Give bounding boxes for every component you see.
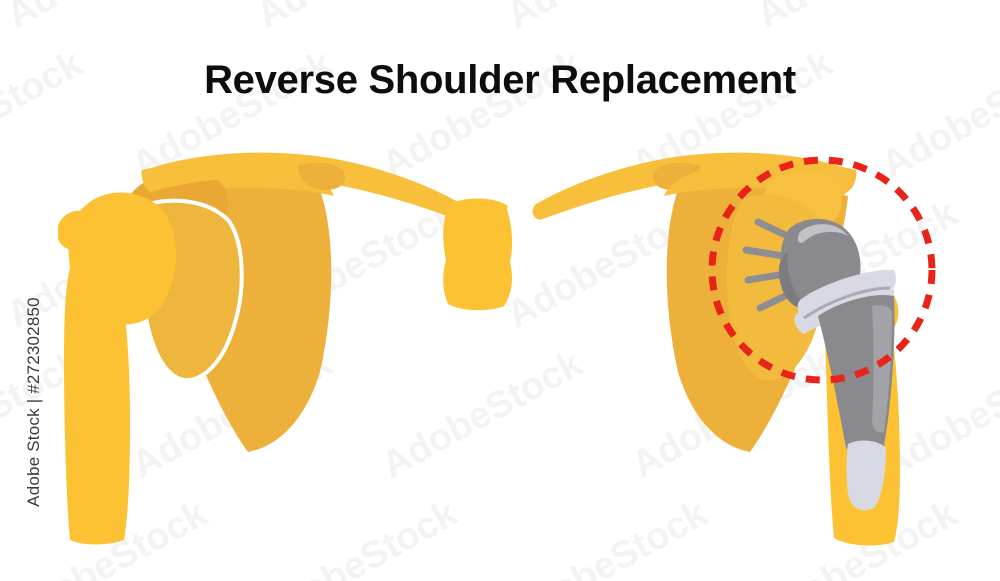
right-replaced-shoulder-group	[533, 153, 932, 546]
page-title: Reverse Shoulder Replacement	[0, 58, 1000, 103]
left-normal-shoulder-group	[58, 153, 465, 545]
illustration-canvas: AdobeStockAdobeStockAdobeStockAdobeStock…	[0, 0, 1000, 581]
watermark-credit-vertical: Adobe Stock | #272302850	[24, 272, 44, 532]
left-greater-tubercle	[58, 211, 91, 251]
sternum-group	[443, 199, 512, 311]
